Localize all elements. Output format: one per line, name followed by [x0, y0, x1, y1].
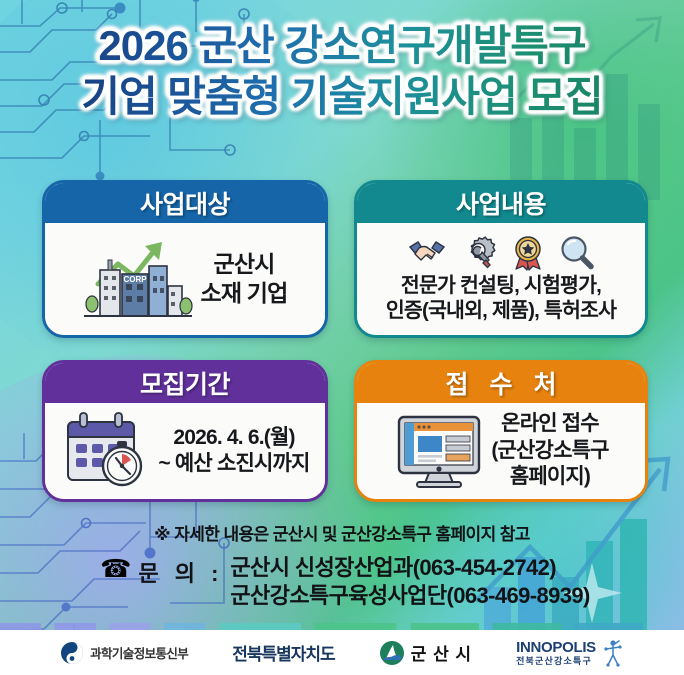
- card-business-target: 사업대상 CORP: [42, 180, 328, 338]
- target-line-1: 군산시: [200, 250, 287, 279]
- card-text-content: 전문가 컨설팅, 시험평가, 인증(국내외, 제품), 특허조사: [386, 273, 616, 323]
- content-line-1: 전문가 컨설팅, 시험평가,: [386, 273, 616, 298]
- contact-label: 문 의 :: [138, 556, 223, 588]
- logo-gunsan: 군 산 시: [379, 640, 472, 666]
- gear-wrench-icon: [461, 236, 497, 270]
- period-line-1: 2026. 4. 6.(월): [158, 425, 309, 451]
- city-buildings-growth-icon: CORP: [82, 232, 194, 326]
- footer-color-strip: [0, 623, 684, 630]
- card-application-period: 모집기간 2026. 4. 6.: [42, 360, 328, 502]
- logo-innopolis-label: INNOPOLIS: [516, 640, 596, 655]
- innopolis-figure-icon: [602, 639, 624, 667]
- reference-note: ※ 자세한 내용은 군산시 및 군산강소특구 홈페이지 참고: [0, 520, 684, 545]
- apply-line-3: 홈페이지): [491, 464, 608, 490]
- contact-line-1: 군산시 신성장산업과(063-454-2742): [230, 554, 589, 582]
- apply-line-1: 온라인 접수: [491, 411, 608, 437]
- desktop-monitor-icon: [393, 411, 485, 491]
- logo-innopolis-sublabel: 전북군산강소특구: [516, 657, 596, 666]
- card-business-content: 사업내용: [354, 180, 648, 338]
- card-heading-target: 사업대상: [45, 183, 325, 223]
- card-text-apply: 온라인 접수 (군산강소특구 홈페이지): [491, 411, 608, 490]
- target-line-2: 소재 기업: [200, 279, 287, 308]
- content-line-2: 인증(국내외, 제품), 특허조사: [386, 298, 616, 323]
- title-line-1: 2026 군산 강소연구개발특구: [0, 20, 684, 71]
- card-heading-content: 사업내용: [357, 183, 645, 223]
- card-text-period: 2026. 4. 6.(월) ~ 예산 소진시까지: [158, 425, 309, 478]
- logo-jeonbuk: 전북특별자치도: [232, 640, 334, 665]
- logo-msit: 과학기술정보통신부: [60, 641, 188, 665]
- gunsan-mark-icon: [379, 640, 405, 666]
- poster-canvas: 2026 군산 강소연구개발특구 기업 맞춤형 기술지원사업 모집 사업대상: [0, 0, 684, 675]
- magnifier-icon: [559, 235, 595, 271]
- footer-logo-bar: 과학기술정보통신부 전북특별자치도 군 산 시 INNOPOLIS 전북군산강소…: [0, 630, 684, 675]
- card-body-target: CORP 군산시 소재 기업: [45, 223, 325, 335]
- award-medal-icon: [511, 235, 545, 271]
- card-heading-apply: 접 수 처: [357, 363, 645, 403]
- card-body-content: 전문가 컨설팅, 시험평가, 인증(국내외, 제품), 특허조사: [357, 223, 645, 335]
- contact-block: ☎ 문 의 : 군산시 신성장산업과(063-454-2742) 군산강소특구육…: [0, 554, 684, 610]
- calendar-stopwatch-icon: [60, 410, 152, 492]
- logo-gunsan-label: 군 산 시: [411, 640, 472, 665]
- card-text-target: 군산시 소재 기업: [200, 250, 287, 308]
- logo-msit-label: 과학기술정보통신부: [90, 643, 188, 662]
- logo-jeonbuk-label: 전북특별자치도: [232, 640, 334, 665]
- page-title: 2026 군산 강소연구개발특구 기업 맞춤형 기술지원사업 모집: [0, 20, 684, 122]
- handshake-icon: [407, 237, 447, 269]
- apply-line-2: (군산강소특구: [491, 438, 608, 464]
- contact-lines: 군산시 신성장산업과(063-454-2742) 군산강소특구육성사업단(063…: [230, 554, 589, 610]
- telephone-icon: ☎: [100, 557, 131, 582]
- logo-innopolis: INNOPOLIS 전북군산강소특구: [516, 639, 624, 667]
- title-line-2: 기업 맞춤형 기술지원사업 모집: [0, 71, 684, 122]
- period-line-2: ~ 예산 소진시까지: [158, 451, 309, 477]
- card-application-channel: 접 수 처: [354, 360, 648, 502]
- contact-line-2: 군산강소특구육성사업단(063-469-8939): [230, 582, 589, 610]
- card-body-apply: 온라인 접수 (군산강소특구 홈페이지): [357, 403, 645, 499]
- svg-text:CORP: CORP: [124, 275, 148, 284]
- card-body-period: 2026. 4. 6.(월) ~ 예산 소진시까지: [45, 403, 325, 499]
- notes-section: ※ 자세한 내용은 군산시 및 군산강소특구 홈페이지 참고 ☎ 문 의 : 군…: [0, 520, 684, 610]
- card-heading-period: 모집기간: [45, 363, 325, 403]
- innopolis-text-stack: INNOPOLIS 전북군산강소특구: [516, 640, 596, 666]
- taegeuk-icon: [60, 641, 84, 665]
- content-icon-row: [407, 235, 595, 271]
